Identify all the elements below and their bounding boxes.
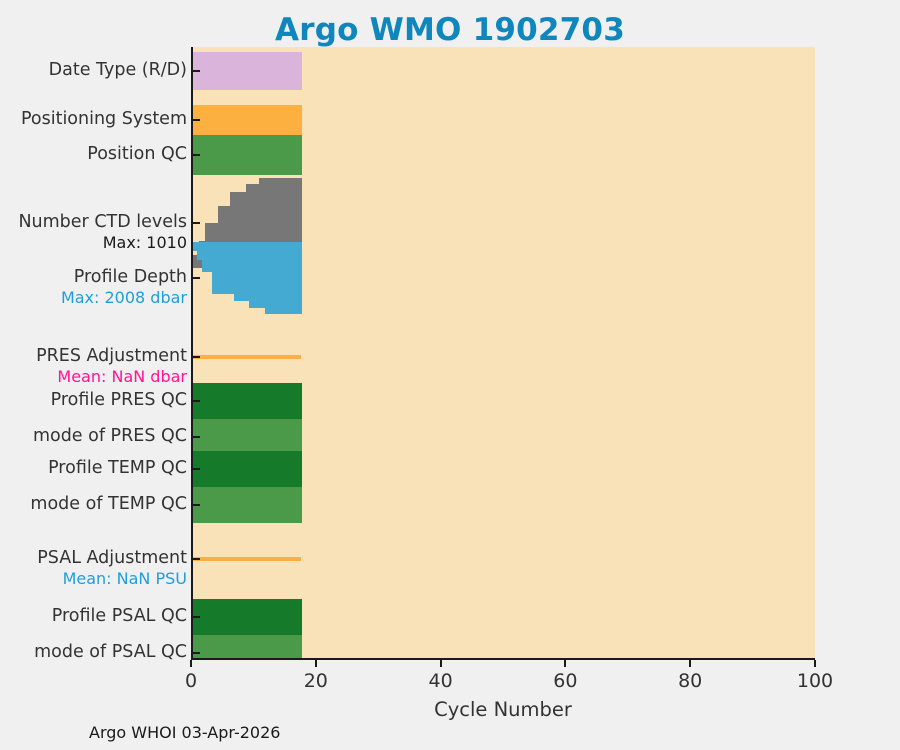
y-label-text: Profile PSAL QC	[52, 606, 187, 627]
y-label-sublabel: Mean: NaN PSU	[37, 569, 187, 589]
track-psal-adjustment	[193, 537, 815, 581]
x-tick-mark	[814, 660, 816, 667]
y-tick-mark	[193, 652, 200, 654]
y-tick-mark	[193, 222, 200, 224]
y-label-text: mode of PRES QC	[33, 426, 187, 447]
x-tick-label: 100	[780, 670, 850, 692]
y-axis-label-positioning-system: Positioning System	[21, 109, 187, 130]
y-label-text: PRES Adjustment	[36, 346, 187, 367]
x-tick-label: 20	[281, 670, 351, 692]
plot-area	[191, 47, 815, 660]
argo-profile-summary-figure: Argo WMO 1902703 Date Type (R/D)Position…	[0, 0, 900, 750]
y-tick-mark	[193, 277, 200, 279]
x-tick-mark	[440, 660, 442, 667]
step-segment	[249, 242, 265, 308]
y-label-text: mode of TEMP QC	[30, 494, 187, 515]
y-label-text: Position QC	[87, 144, 187, 165]
track-mode-of-psal-qc	[193, 635, 815, 660]
y-label-text: Profile TEMP QC	[48, 458, 187, 479]
y-axis-label-position-qc: Position QC	[87, 144, 187, 165]
zero-line-segment	[193, 355, 301, 359]
y-axis-label-mode-of-psal-qc: mode of PSAL QC	[34, 642, 187, 663]
x-tick-label: 40	[406, 670, 476, 692]
x-tick-mark	[564, 660, 566, 667]
y-label-sublabel: Max: 2008 dbar	[61, 288, 187, 308]
y-label-text: Profile Depth	[61, 267, 187, 288]
bar-segment	[193, 599, 302, 635]
page-title: Argo WMO 1902703	[0, 12, 900, 48]
bar-segment	[193, 487, 302, 523]
y-label-text: mode of PSAL QC	[34, 642, 187, 663]
track-positioning-system	[193, 105, 815, 135]
track-profile-pres-qc	[193, 383, 815, 419]
y-tick-mark	[193, 70, 200, 72]
x-axis-title: Cycle Number	[191, 698, 815, 721]
step-segment	[202, 242, 212, 272]
y-label-sublabel: Max: 1010	[18, 233, 187, 253]
track-mode-of-temp-qc	[193, 487, 815, 523]
bar-segment	[193, 135, 302, 175]
y-axis-label-psal-adjustment: PSAL AdjustmentMean: NaN PSU	[37, 548, 187, 589]
y-axis-label-profile-temp-qc: Profile TEMP QC	[48, 458, 187, 479]
track-mode-of-pres-qc	[193, 419, 815, 455]
y-tick-mark	[193, 468, 200, 470]
y-tick-mark	[193, 504, 200, 506]
zero-line-segment	[193, 557, 301, 561]
y-axis-label-number-ctd-levels: Number CTD levelsMax: 1010	[18, 212, 187, 253]
track-profile-depth	[193, 242, 815, 314]
bar-segment	[193, 105, 302, 135]
x-tick-mark	[190, 660, 192, 667]
y-label-text: Number CTD levels	[18, 212, 187, 233]
track-profile-temp-qc	[193, 451, 815, 487]
y-axis-label-profile-psal-qc: Profile PSAL QC	[52, 606, 187, 627]
x-tick-label: 80	[655, 670, 725, 692]
y-label-text: PSAL Adjustment	[37, 548, 187, 569]
step-segment	[265, 242, 302, 314]
track-profile-psal-qc	[193, 599, 815, 635]
bar-segment	[193, 52, 302, 90]
step-segment	[212, 242, 234, 294]
track-pres-adjustment	[193, 335, 815, 379]
y-axis-label-pres-adjustment: PRES AdjustmentMean: NaN dbar	[36, 346, 187, 387]
y-tick-mark	[193, 558, 200, 560]
x-tick-label: 0	[156, 670, 226, 692]
y-label-text: Date Type (R/D)	[49, 60, 187, 81]
y-axis-label-date-type-r-d: Date Type (R/D)	[49, 60, 187, 81]
y-tick-mark	[193, 356, 200, 358]
y-axis-label-mode-of-temp-qc: mode of TEMP QC	[30, 494, 187, 515]
y-axis-label-profile-pres-qc: Profile PRES QC	[51, 390, 187, 411]
x-tick-label: 60	[530, 670, 600, 692]
footer-credit: Argo WHOI 03-Apr-2026	[89, 723, 280, 742]
y-tick-mark	[193, 436, 200, 438]
y-tick-mark	[193, 400, 200, 402]
step-segment	[234, 242, 250, 301]
y-label-text: Positioning System	[21, 109, 187, 130]
y-label-text: Profile PRES QC	[51, 390, 187, 411]
y-tick-mark	[193, 154, 200, 156]
bar-segment	[193, 383, 302, 419]
track-date-type-r-d	[193, 52, 815, 90]
y-axis-label-mode-of-pres-qc: mode of PRES QC	[33, 426, 187, 447]
bar-segment	[193, 451, 302, 487]
y-tick-mark	[193, 119, 200, 121]
x-tick-mark	[315, 660, 317, 667]
y-tick-mark	[193, 616, 200, 618]
track-position-qc	[193, 135, 815, 175]
x-tick-mark	[689, 660, 691, 667]
bar-segment	[193, 419, 302, 455]
y-axis-label-profile-depth: Profile DepthMax: 2008 dbar	[61, 267, 187, 308]
bar-segment	[193, 635, 302, 660]
y-label-sublabel: Mean: NaN dbar	[36, 367, 187, 387]
